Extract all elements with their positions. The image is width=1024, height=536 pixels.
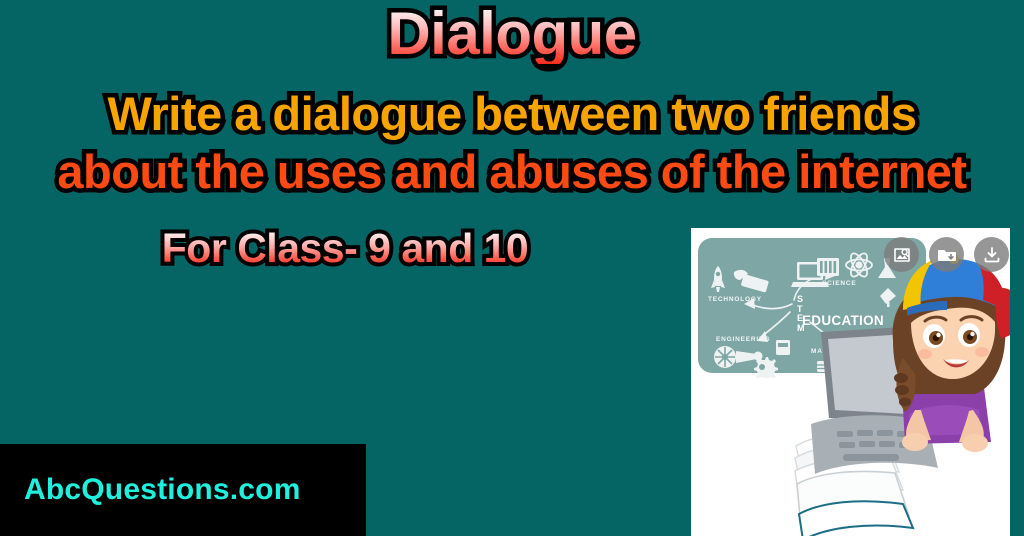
subtitle-line-1-fill: Write a dialogue between two friends: [0, 90, 1024, 137]
visual-search-icon[interactable]: [884, 237, 919, 272]
page-title: Dialogue Dialogue: [0, 4, 1024, 64]
folder-download-glyph: [937, 245, 957, 265]
subtitle-line-2-fill: about the uses and abuses of the interne…: [0, 148, 1024, 195]
poster-canvas: Dialogue Dialogue Write a dialogue betwe…: [0, 0, 1024, 536]
watermark-text: AbcQuestions.com: [0, 473, 301, 507]
subtitle-line-2: about the uses and abuses of the interne…: [0, 148, 1024, 195]
image-action-buttons[interactable]: [884, 237, 1009, 272]
download-glyph: [982, 245, 1002, 265]
page-title-fill: Dialogue: [0, 4, 1024, 64]
download-icon[interactable]: [974, 237, 1009, 272]
girl-character: [893, 254, 1010, 452]
save-to-folder-icon[interactable]: [929, 237, 964, 272]
subtitle-line-1: Write a dialogue between two friends Wri…: [0, 90, 1024, 137]
watermark-bar: AbcQuestions.com: [0, 444, 366, 536]
visual-search-glyph: [892, 245, 912, 265]
class-line-fill: For Class- 9 and 10: [0, 228, 690, 269]
illustration-card: TECHNOLOGY: [691, 228, 1010, 536]
girl-typing-illustration: [691, 228, 1010, 536]
class-line: For Class- 9 and 10 For Class- 9 and 10: [0, 228, 690, 269]
